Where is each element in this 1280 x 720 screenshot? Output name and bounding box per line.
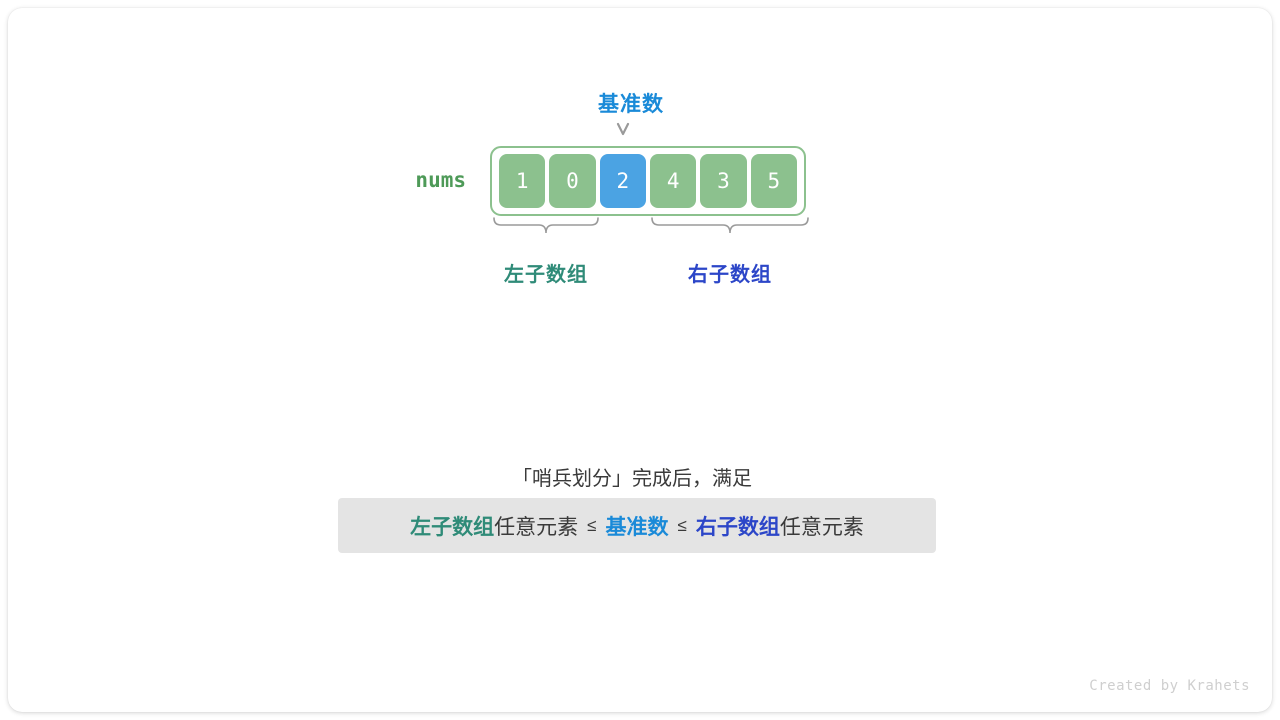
pivot-label-text: 基准数 (598, 93, 664, 116)
array-cell-pivot[interactable]: 2 (600, 154, 646, 208)
left-subarray-label: 左子数组 (476, 258, 616, 287)
conclusion-caption-text: 「哨兵划分」完成后，满足 (512, 468, 752, 490)
invariant-formula: 左子数组 任意元素 ≤ 基准数 ≤ 右子数组 任意元素 (338, 498, 936, 553)
slide-card: 基准数 nums 1 0 2 4 3 5 左子数组 右子数组 「哨兵划分」完成后… (8, 8, 1272, 712)
array-cell[interactable]: 0 (549, 154, 595, 208)
right-subarray-label: 右子数组 (650, 258, 810, 287)
formula-right-term: 右子数组 (696, 511, 780, 541)
formula-right-suffix: 任意元素 (780, 511, 864, 541)
formula-pivot-term: 基准数 (606, 511, 669, 541)
pivot-label: 基准数 (8, 88, 1272, 118)
left-subarray-brace (492, 216, 600, 240)
array-cell[interactable]: 5 (751, 154, 797, 208)
array-container: 1 0 2 4 3 5 (490, 146, 806, 216)
array-cell[interactable]: 3 (700, 154, 746, 208)
formula-left-suffix: 任意元素 (494, 511, 578, 541)
right-subarray-brace (650, 216, 810, 240)
partition-diagram: 基准数 nums 1 0 2 4 3 5 左子数组 右子数组 (8, 8, 1272, 712)
array-cell[interactable]: 1 (499, 154, 545, 208)
chevron-down-icon (616, 120, 630, 140)
array-cell[interactable]: 4 (650, 154, 696, 208)
formula-operator-2: ≤ (669, 516, 696, 536)
formula-left-term: 左子数组 (410, 511, 494, 541)
array-name-label: nums (408, 168, 466, 192)
conclusion-caption: 「哨兵划分」完成后，满足 (8, 462, 1272, 491)
watermark: Created by Krahets (1089, 678, 1250, 694)
formula-operator-1: ≤ (578, 516, 605, 536)
